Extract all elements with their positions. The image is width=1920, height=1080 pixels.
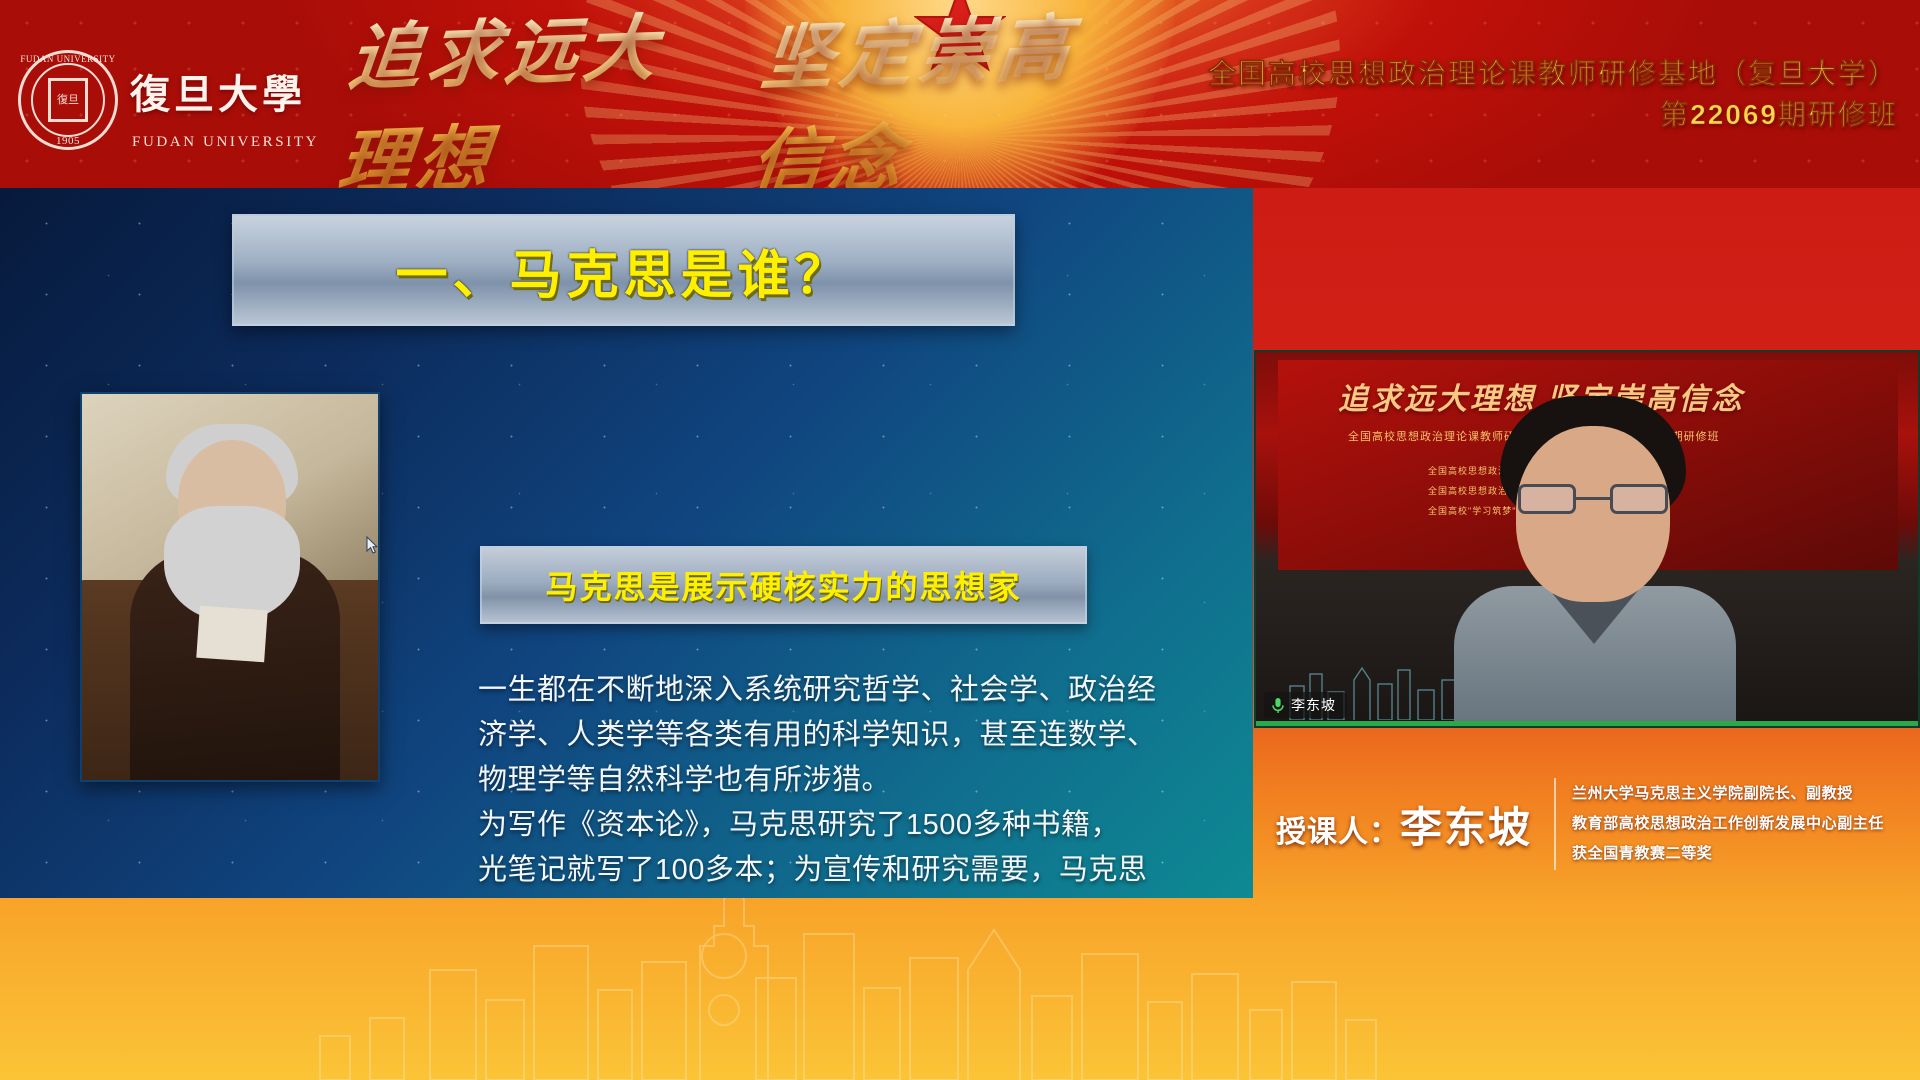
speaker-label: 授课人： bbox=[1276, 816, 1400, 849]
slide-body-text: 一生都在不断地深入系统研究哲学、社会学、政治经 济学、人类学等各类有用的科学知识… bbox=[478, 668, 1238, 898]
slide-body-line: 自学英语到最终可以自由进行写作，50多岁时又因为 bbox=[478, 893, 1238, 898]
program-title-block: 全国高校思想政治理论课教师研修基地（复旦大学） 第22069期研修班 bbox=[1208, 54, 1898, 135]
speaker-info-strip: 授课人：李东坡 兰州大学马克思主义学院副院长、副教授 教育部高校思想政治工作创新… bbox=[1254, 760, 1920, 888]
slide-body-line: 一生都在不断地深入系统研究哲学、社会学、政治经 bbox=[478, 668, 1238, 713]
logo-seal-glyph: 復旦 bbox=[48, 78, 88, 122]
program-title-line2: 第22069期研修班 bbox=[1208, 95, 1898, 136]
speaker-credential-item: 教育部高校思想政治工作创新发展中心副主任 bbox=[1572, 809, 1920, 839]
speaker-credential-item: 兰州大学马克思主义学院副院长、副教授 bbox=[1572, 779, 1920, 809]
speaker-credential-item: 获全国青教赛二等奖 bbox=[1572, 839, 1920, 869]
event-header-banner: FUDAN UNIVERSITY 復旦 1905 復旦大學 FUDAN UNIV… bbox=[0, 0, 1920, 188]
speaker-name-block: 授课人：李东坡 bbox=[1254, 794, 1554, 855]
speaker-credentials-list: 兰州大学马克思主义学院副院长、副教授 教育部高校思想政治工作创新发展中心副主任 … bbox=[1556, 779, 1920, 869]
slide-body-line: 为写作《资本论》，马克思研究了1500多种书籍， bbox=[478, 803, 1238, 848]
mouse-cursor-icon bbox=[366, 536, 378, 554]
university-name-en: FUDAN UNIVERSITY bbox=[132, 134, 319, 151]
speaker-video-tile[interactable]: 追求远大理想 坚定崇高信念 全国高校思想政治理论课教师研修基地（复旦大学）第22… bbox=[1254, 350, 1920, 728]
video-participant-badge: 李东坡 bbox=[1264, 692, 1347, 718]
slide-title-banner: 一、马克思是谁？ bbox=[232, 214, 1015, 326]
slide-title-text: 一、马克思是谁？ bbox=[234, 216, 1013, 324]
calligraphy-right-phrase: 坚定崇高信念 bbox=[746, 0, 1137, 188]
slide-subtitle-text: 马克思是展示硬核实力的思想家 bbox=[545, 562, 1021, 608]
marx-portrait-image bbox=[80, 392, 380, 782]
speaker-name: 李东坡 bbox=[1400, 804, 1532, 851]
slide-body-line: 济学、人类学等各类有用的科学知识，甚至连数学、 bbox=[478, 713, 1238, 758]
video-participant-name: 李东坡 bbox=[1291, 695, 1336, 715]
logo-ring-text: FUDAN UNIVERSITY bbox=[18, 54, 118, 64]
logo-year: 1905 bbox=[18, 135, 118, 147]
university-name-cn: 復旦大學 bbox=[130, 62, 306, 120]
slide-body-line: 物理学等自然科学也有所涉猎。 bbox=[478, 758, 1238, 803]
microphone-icon bbox=[1271, 697, 1285, 714]
fudan-university-logo: FUDAN UNIVERSITY 復旦 1905 bbox=[18, 50, 118, 150]
slide-body-line: 光笔记就写了100多本；为宣传和研究需要，马克思 bbox=[478, 848, 1238, 893]
active-speaker-indicator bbox=[1256, 721, 1918, 726]
calligraphy-left-phrase: 追求远大理想 bbox=[333, 0, 724, 188]
speaker-webcam-figure bbox=[1444, 396, 1744, 728]
calligraphy-slogan: 追求远大理想 坚定崇高信念 bbox=[345, 38, 1125, 158]
broadcast-stage: FUDAN UNIVERSITY 復旦 1905 復旦大學 FUDAN UNIV… bbox=[0, 0, 1920, 1080]
presentation-slide[interactable]: 一、马克思是谁？ 马克思是展示硬核实力的思想家 一生都在不断地深入系统研究哲学、… bbox=[0, 188, 1253, 898]
slide-subtitle-box: 马克思是展示硬核实力的思想家 bbox=[480, 546, 1087, 624]
eyeglasses-decor bbox=[1518, 484, 1668, 514]
program-title-line1: 全国高校思想政治理论课教师研修基地（复旦大学） bbox=[1208, 54, 1898, 95]
